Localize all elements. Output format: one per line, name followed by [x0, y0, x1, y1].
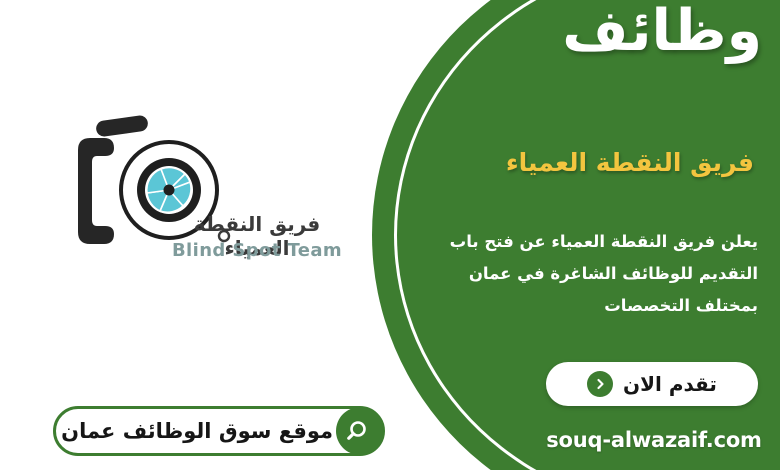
brand-logo: فريق النقطة العمياء Blind Spot Team [38, 112, 350, 272]
website-url[interactable]: souq-alwazaif.com [528, 428, 780, 452]
job-banner: فريق النقطة العمياء Blind Spot Team موقع… [0, 0, 780, 470]
apply-now-label: تقدم الان [623, 372, 717, 396]
search-pill-label: موقع سوق الوظائف عمان [47, 419, 337, 443]
chevron-right-icon [587, 371, 613, 397]
green-panel-content: وظائف فريق النقطة العمياء يعلن فريق النق… [372, 0, 780, 470]
logo-english-name: Blind Spot Team [162, 240, 352, 261]
body-copy: يعلن فريق النقطة العمياء عن فتح باب التق… [428, 226, 758, 323]
apply-now-button[interactable]: تقدم الان [546, 362, 758, 406]
page-title: وظائف [562, 2, 762, 62]
subtitle: فريق النقطة العمياء [506, 148, 754, 178]
site-search-pill[interactable]: موقع سوق الوظائف عمان [53, 406, 385, 456]
